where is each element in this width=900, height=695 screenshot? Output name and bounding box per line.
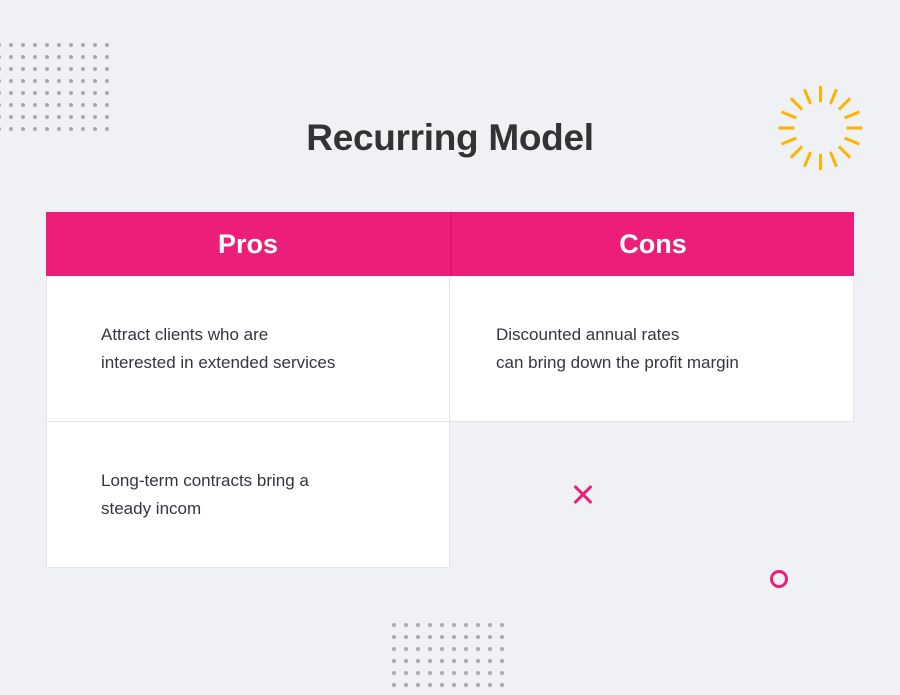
grid-dot	[488, 683, 500, 695]
grid-dot	[404, 671, 416, 683]
grid-dot	[440, 635, 452, 647]
grid-dot	[57, 55, 69, 67]
pros-cons-table: Pros Cons Attract clients who are intere…	[46, 212, 854, 568]
table-row: Long-term contracts bring a steady incom	[46, 422, 854, 568]
grid-dot	[500, 635, 512, 647]
grid-dot	[33, 103, 45, 115]
grid-dot	[81, 67, 93, 79]
grid-dot	[416, 659, 428, 671]
cross-mark-icon	[571, 482, 595, 506]
grid-dot	[416, 623, 428, 635]
grid-dot	[404, 623, 416, 635]
grid-dot	[440, 683, 452, 695]
grid-dot	[500, 683, 512, 695]
dot-grid-bottom-center	[392, 623, 512, 695]
grid-dot	[464, 647, 476, 659]
grid-dot	[404, 659, 416, 671]
grid-dot	[69, 91, 81, 103]
grid-dot	[33, 43, 45, 55]
grid-dot	[428, 659, 440, 671]
grid-dot	[45, 43, 57, 55]
grid-dot	[452, 647, 464, 659]
grid-dot	[476, 683, 488, 695]
grid-dot	[0, 55, 9, 67]
grid-dot	[452, 659, 464, 671]
table-cell-pros-2: Long-term contracts bring a steady incom	[46, 422, 450, 568]
grid-dot	[488, 623, 500, 635]
table-header-cons: Cons	[450, 212, 854, 276]
grid-dot	[392, 683, 404, 695]
table-cell-text: Long-term contracts bring a steady incom	[101, 467, 309, 521]
grid-dot	[81, 43, 93, 55]
grid-dot	[33, 79, 45, 91]
grid-dot	[0, 67, 9, 79]
grid-dot	[488, 671, 500, 683]
grid-dot	[440, 659, 452, 671]
grid-dot	[33, 91, 45, 103]
grid-dot	[105, 103, 117, 115]
sunburst-ray	[837, 97, 850, 110]
table-cell-cons-1: Discounted annual rates can bring down t…	[450, 276, 854, 422]
slide-canvas: Recurring Model Pros Cons Attract client…	[0, 0, 900, 683]
grid-dot	[416, 647, 428, 659]
grid-dot	[416, 671, 428, 683]
page-title: Recurring Model	[0, 117, 900, 159]
grid-dot	[57, 67, 69, 79]
grid-dot	[81, 91, 93, 103]
grid-dot	[81, 79, 93, 91]
grid-dot	[428, 635, 440, 647]
grid-dot	[416, 683, 428, 695]
grid-dot	[69, 67, 81, 79]
grid-dot	[464, 635, 476, 647]
grid-dot	[9, 91, 21, 103]
grid-dot	[500, 659, 512, 671]
grid-dot	[476, 623, 488, 635]
table-header-cons-label: Cons	[619, 229, 687, 260]
grid-dot	[428, 683, 440, 695]
grid-dot	[69, 79, 81, 91]
table-cell-text: Attract clients who are interested in ex…	[101, 321, 335, 375]
grid-dot	[428, 671, 440, 683]
grid-dot	[93, 43, 105, 55]
grid-dot	[416, 635, 428, 647]
grid-dot	[392, 635, 404, 647]
grid-dot	[428, 647, 440, 659]
sunburst-ray	[829, 89, 838, 105]
grid-dot	[440, 623, 452, 635]
grid-dot	[81, 103, 93, 115]
grid-dot	[476, 635, 488, 647]
table-cell-text: Discounted annual rates can bring down t…	[496, 321, 739, 375]
grid-dot	[69, 103, 81, 115]
grid-dot	[392, 623, 404, 635]
grid-dot	[93, 91, 105, 103]
grid-dot	[21, 79, 33, 91]
grid-dot	[9, 43, 21, 55]
grid-dot	[93, 67, 105, 79]
grid-dot	[69, 55, 81, 67]
grid-dot	[464, 683, 476, 695]
grid-dot	[404, 647, 416, 659]
grid-dot	[57, 79, 69, 91]
grid-dot	[93, 55, 105, 67]
grid-dot	[45, 67, 57, 79]
grid-dot	[404, 635, 416, 647]
grid-dot	[45, 55, 57, 67]
table-cell-pros-1: Attract clients who are interested in ex…	[46, 276, 450, 422]
grid-dot	[500, 671, 512, 683]
grid-dot	[404, 683, 416, 695]
grid-dot	[464, 671, 476, 683]
grid-dot	[93, 79, 105, 91]
grid-dot	[33, 55, 45, 67]
grid-dot	[452, 683, 464, 695]
table-header-pros: Pros	[46, 212, 450, 276]
sunburst-ray	[819, 86, 822, 102]
grid-dot	[0, 103, 9, 115]
grid-dot	[33, 67, 45, 79]
grid-dot	[392, 659, 404, 671]
grid-dot	[428, 623, 440, 635]
circle-outline-icon	[770, 570, 788, 588]
grid-dot	[464, 659, 476, 671]
grid-dot	[9, 67, 21, 79]
grid-dot	[452, 623, 464, 635]
grid-dot	[21, 67, 33, 79]
table-row: Attract clients who are interested in ex…	[46, 276, 854, 422]
grid-dot	[452, 635, 464, 647]
grid-dot	[45, 103, 57, 115]
grid-dot	[105, 67, 117, 79]
sunburst-ray	[789, 97, 802, 110]
table-cell-cons-2	[450, 422, 854, 568]
grid-dot	[21, 103, 33, 115]
grid-dot	[476, 671, 488, 683]
grid-dot	[440, 671, 452, 683]
grid-dot	[0, 91, 9, 103]
table-header-row: Pros Cons	[46, 212, 854, 276]
grid-dot	[476, 659, 488, 671]
grid-dot	[81, 55, 93, 67]
grid-dot	[488, 635, 500, 647]
grid-dot	[0, 79, 9, 91]
grid-dot	[488, 647, 500, 659]
sunburst-ray	[803, 89, 812, 105]
grid-dot	[392, 647, 404, 659]
grid-dot	[105, 43, 117, 55]
grid-dot	[500, 623, 512, 635]
grid-dot	[93, 103, 105, 115]
grid-dot	[500, 647, 512, 659]
grid-dot	[476, 647, 488, 659]
grid-dot	[440, 647, 452, 659]
grid-dot	[57, 103, 69, 115]
grid-dot	[9, 55, 21, 67]
grid-dot	[105, 55, 117, 67]
table-header-pros-label: Pros	[218, 229, 278, 260]
grid-dot	[105, 79, 117, 91]
grid-dot	[21, 43, 33, 55]
grid-dot	[57, 91, 69, 103]
grid-dot	[105, 91, 117, 103]
grid-dot	[57, 43, 69, 55]
grid-dot	[21, 55, 33, 67]
grid-dot	[45, 91, 57, 103]
grid-dot	[392, 671, 404, 683]
grid-dot	[9, 79, 21, 91]
grid-dot	[488, 659, 500, 671]
grid-dot	[69, 43, 81, 55]
grid-dot	[0, 43, 9, 55]
grid-dot	[45, 79, 57, 91]
grid-dot	[9, 103, 21, 115]
grid-dot	[464, 623, 476, 635]
grid-dot	[21, 91, 33, 103]
grid-dot	[452, 671, 464, 683]
